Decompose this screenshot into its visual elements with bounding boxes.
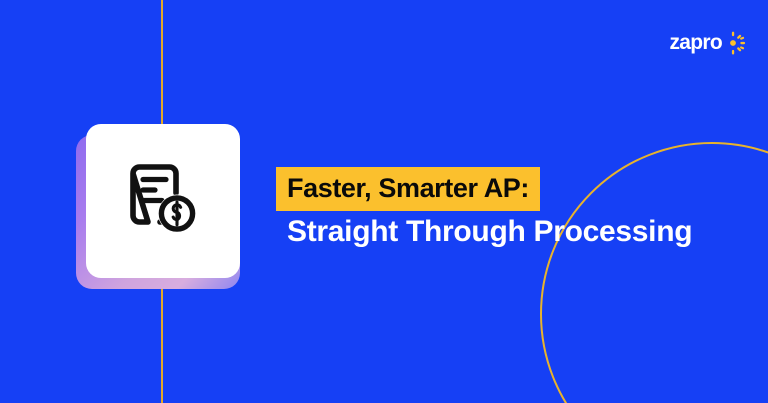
sunburst-icon — [722, 31, 746, 55]
promo-banner: Faster, Smarter AP: Straight Through Pro… — [0, 0, 768, 403]
zapro-wordmark: zapro — [669, 32, 722, 53]
icon-card — [76, 124, 251, 289]
headline-line1-highlighted: Faster, Smarter AP: — [276, 167, 540, 211]
headline-block: Faster, Smarter AP: Straight Through Pro… — [276, 167, 746, 248]
headline-line1-row: Faster, Smarter AP: — [276, 167, 746, 211]
invoice-dollar-icon — [124, 162, 202, 240]
zapro-logo: zapro — [669, 29, 746, 55]
icon-card-surface — [86, 124, 240, 278]
headline-line2-row: Straight Through Processing — [276, 216, 746, 248]
headline-line2: Straight Through Processing — [276, 216, 692, 248]
